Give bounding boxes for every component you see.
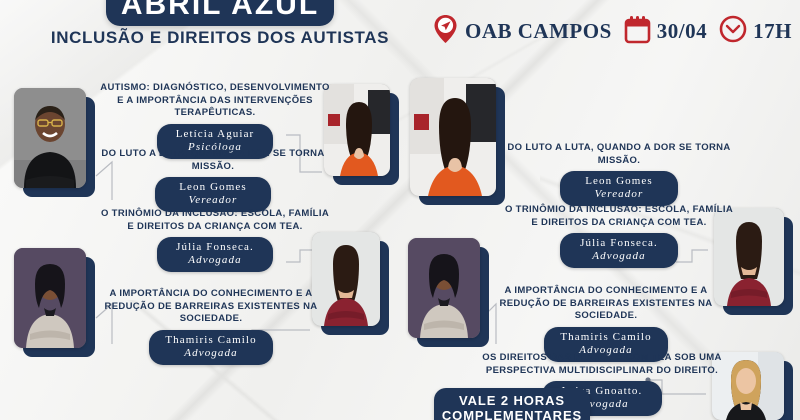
speaker-role: Vereador — [560, 188, 678, 201]
location-pin-icon — [432, 14, 459, 49]
complementary-hours-badge: VALE 2 HORAS COMPLEMENTARES — [434, 388, 590, 420]
talk-title: DO LUTO A LUTA, QUANDO A DOR SE TORNA MI… — [504, 142, 734, 167]
talk-title: AUTISMO: DIAGNÓSTICO, DESENVOLVIMENTO E … — [98, 82, 332, 120]
poster-title: ABRIL AZUL — [106, 0, 334, 22]
speaker-name: Leon Gomes — [155, 181, 271, 194]
talk-item: DO LUTO A LUTA, QUANDO A DOR SE TORNA MI… — [96, 148, 330, 212]
event-time: 17H — [719, 15, 792, 48]
speaker-role: Advogada — [149, 347, 273, 360]
photo-frame — [14, 248, 86, 348]
talk-title: O TRINÔMIO DA INCLUSÃO: ESCOLA, FAMÍLIA … — [98, 208, 332, 233]
speaker-role: Advogada — [560, 250, 678, 263]
speaker-badge: Leon Gomes Vereador — [560, 171, 678, 206]
hours-badge-line1: VALE 2 HORAS — [434, 393, 590, 408]
talk-title: OS DIREITOS DAS PESSOAS COM TEA SOB UMA … — [478, 352, 726, 377]
poster-title-badge: ABRIL AZUL — [106, 0, 334, 26]
event-time-text: 17H — [753, 19, 792, 44]
talk-item: O TRINÔMIO DA INCLUSÃO: ESCOLA, FAMÍLIA … — [504, 204, 734, 268]
speaker-role: Vereador — [155, 194, 271, 207]
calendar-icon — [624, 15, 651, 49]
talk-title: A IMPORTÂNCIA DO CONHECIMENTO E A REDUÇÃ… — [88, 288, 334, 326]
talk-item: A IMPORTÂNCIA DO CONHECIMENTO E A REDUÇÃ… — [486, 285, 726, 362]
event-location-text: OAB CAMPOS — [465, 19, 612, 44]
event-poster: ABRIL AZUL INCLUSÃO E DIREITOS DOS AUTIS… — [0, 0, 800, 420]
talk-title: A IMPORTÂNCIA DO CONHECIMENTO E A REDUÇÃ… — [486, 285, 726, 323]
speaker-badge: Júlia Fonseca. Advogada — [560, 233, 678, 268]
photo-frame — [14, 88, 86, 188]
hours-badge-line2: COMPLEMENTARES — [434, 408, 590, 420]
event-date-text: 30/04 — [657, 19, 707, 44]
photo-frame — [410, 78, 496, 196]
photo-frame — [408, 238, 480, 338]
photo-woman-orange-blazer-large — [410, 78, 496, 196]
speaker-badge: Leon Gomes Vereador — [155, 177, 271, 212]
speaker-badge: Júlia Fonseca. Advogada — [157, 237, 273, 272]
photo-woman-orange-blazer-small — [324, 84, 390, 176]
talk-title: DO LUTO A LUTA, QUANDO A DOR SE TORNA MI… — [96, 148, 330, 173]
poster-subtitle: INCLUSÃO E DIREITOS DOS AUTISTAS — [40, 28, 400, 48]
speaker-name: Júlia Fonseca. — [157, 241, 273, 254]
talk-item: DO LUTO A LUTA, QUANDO A DOR SE TORNA MI… — [504, 142, 734, 206]
talk-item: O TRINÔMIO DA INCLUSÃO: ESCOLA, FAMÍLIA … — [98, 208, 332, 272]
speaker-name: Thamiris Camilo — [544, 331, 668, 344]
speaker-name: Leon Gomes — [560, 175, 678, 188]
speaker-name: Thamiris Camilo — [149, 334, 273, 347]
speaker-role: Advogada — [157, 254, 273, 267]
speaker-name: Júlia Fonseca. — [560, 237, 678, 250]
event-info-bar: OAB CAMPOS 30/04 17H — [432, 14, 792, 49]
event-location: OAB CAMPOS — [432, 14, 612, 49]
photo-woman-dark-blouse-arms-crossed-left — [14, 248, 86, 348]
photo-woman-dark-blouse-arms-crossed-center — [408, 238, 480, 338]
speaker-name: Letícia Aguiar — [157, 128, 273, 141]
event-date: 30/04 — [624, 15, 707, 49]
talk-item: A IMPORTÂNCIA DO CONHECIMENTO E A REDUÇÃ… — [88, 288, 334, 365]
clock-icon — [719, 15, 747, 48]
photo-man-glasses-black-sweater — [14, 88, 86, 188]
photo-frame — [324, 84, 390, 176]
speaker-badge: Thamiris Camilo Advogada — [149, 330, 273, 365]
talk-title: O TRINÔMIO DA INCLUSÃO: ESCOLA, FAMÍLIA … — [504, 204, 734, 229]
